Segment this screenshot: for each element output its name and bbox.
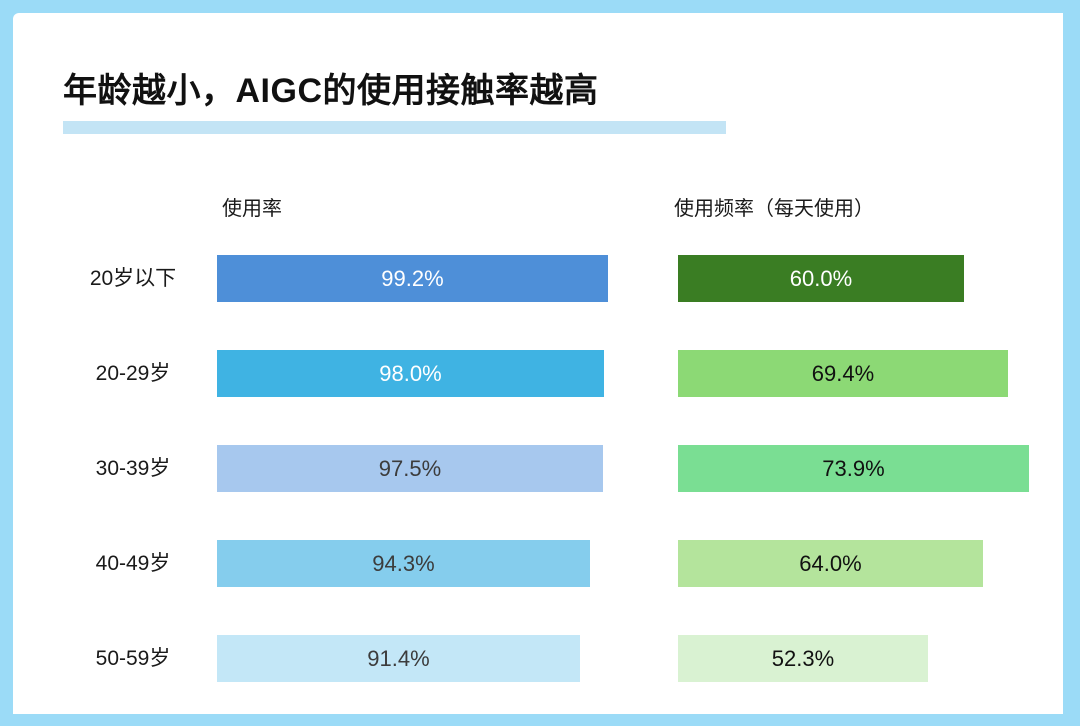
bar-green: 60.0% — [678, 255, 964, 302]
bar-green: 69.4% — [678, 350, 1008, 397]
bar-blue: 99.2% — [217, 255, 608, 302]
bar-value-label: 64.0% — [678, 540, 983, 587]
bar-blue: 94.3% — [217, 540, 590, 587]
column-header-usage-rate: 使用率 — [222, 192, 282, 221]
column-header-usage-frequency: 使用频率（每天使用） — [674, 192, 874, 221]
bar-green: 73.9% — [678, 445, 1029, 492]
bar-value-label: 94.3% — [217, 540, 590, 587]
bar-value-label: 97.5% — [217, 445, 603, 492]
bar-blue: 98.0% — [217, 350, 604, 397]
chart-card: 年龄越小，AIGC的使用接触率越高 使用率 使用频率（每天使用） 20岁以下99… — [13, 13, 1063, 714]
bar-value-label: 91.4% — [217, 635, 580, 682]
bar-value-label: 60.0% — [678, 255, 964, 302]
row-label-age-group: 50-59岁 — [59, 635, 207, 682]
row-label-age-group: 20岁以下 — [59, 255, 207, 302]
bar-value-label: 99.2% — [217, 255, 608, 302]
bar-blue: 91.4% — [217, 635, 580, 682]
title-highlight-bar — [63, 121, 726, 134]
page-title: 年龄越小，AIGC的使用接触率越高 — [63, 65, 599, 117]
row-label-age-group: 20-29岁 — [59, 350, 207, 397]
bar-value-label: 69.4% — [678, 350, 1008, 397]
chart-row: 50-59岁91.4%52.3% — [13, 635, 1063, 682]
bar-blue: 97.5% — [217, 445, 603, 492]
chart-row: 20岁以下99.2%60.0% — [13, 255, 1063, 302]
bar-value-label: 73.9% — [678, 445, 1029, 492]
bar-chart: 20岁以下99.2%60.0%20-29岁98.0%69.4%30-39岁97.… — [13, 243, 1063, 703]
bar-green: 52.3% — [678, 635, 928, 682]
bar-green: 64.0% — [678, 540, 983, 587]
chart-row: 20-29岁98.0%69.4% — [13, 350, 1063, 397]
chart-row: 30-39岁97.5%73.9% — [13, 445, 1063, 492]
chart-row: 40-49岁94.3%64.0% — [13, 540, 1063, 587]
bar-value-label: 52.3% — [678, 635, 928, 682]
row-label-age-group: 30-39岁 — [59, 445, 207, 492]
title-block: 年龄越小，AIGC的使用接触率越高 — [63, 65, 1023, 135]
row-label-age-group: 40-49岁 — [59, 540, 207, 587]
bar-value-label: 98.0% — [217, 350, 604, 397]
